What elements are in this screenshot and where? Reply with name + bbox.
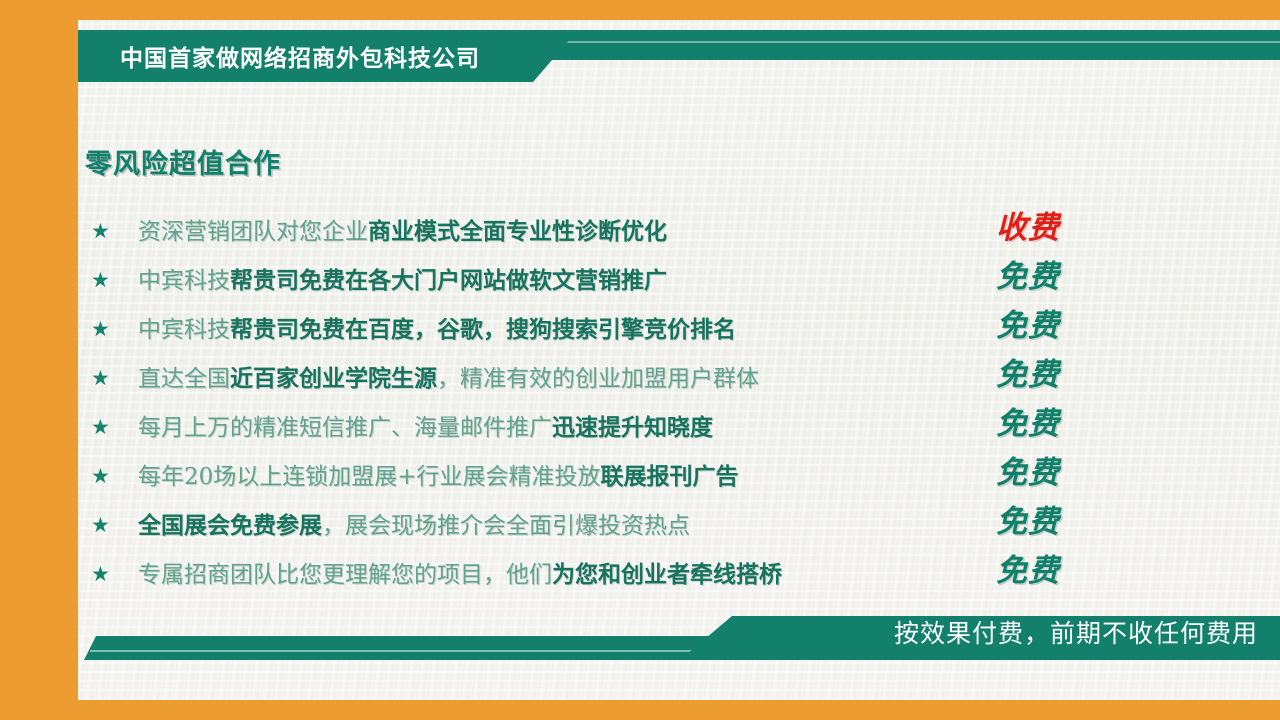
benefit-text-light-lead: 中宾科技: [138, 317, 230, 343]
benefit-text: 中宾科技帮贵司免费在百度，谷歌，搜狗搜索引擎竞价排名: [138, 314, 736, 346]
list-item: ★每月上万的精准短信推广、海量邮件推广迅速提升知晓度免费: [78, 406, 1280, 455]
star-icon: ★: [91, 466, 110, 487]
price-badge: 免费: [958, 255, 1098, 299]
benefit-text-light-tail: ，展会现场推介会全面引爆投资热点: [322, 513, 690, 539]
benefit-text-emphasis: 帮贵司免费在百度，谷歌，搜狗搜索引擎竞价排名: [230, 317, 736, 343]
benefit-text-emphasis: 商业模式全面专业性诊断优化: [368, 219, 667, 245]
benefit-text-emphasis: 全国展会免费参展: [138, 513, 322, 539]
price-badge: 免费: [958, 549, 1098, 593]
price-badge: 免费: [958, 500, 1098, 544]
star-icon: ★: [91, 221, 110, 242]
benefit-text-light-lead: 每月上万的精准短信推广、海量邮件推广: [138, 415, 552, 441]
list-item: ★中宾科技帮贵司免费在各大门户网站做软文营销推广免费: [78, 259, 1280, 308]
benefits-list: ★资深营销团队对您企业商业模式全面专业性诊断优化收费★中宾科技帮贵司免费在各大门…: [78, 210, 1280, 602]
list-item: ★直达全国近百家创业学院生源，精准有效的创业加盟用户群体免费: [78, 357, 1280, 406]
star-icon: ★: [91, 515, 110, 536]
list-item: ★资深营销团队对您企业商业模式全面专业性诊断优化收费: [78, 210, 1280, 259]
benefit-text-light-tail: ，精准有效的创业加盟用户群体: [437, 366, 759, 392]
benefit-text-emphasis: 联展报刊广告: [601, 464, 739, 490]
star-icon: ★: [91, 270, 110, 291]
star-icon: ★: [91, 368, 110, 389]
list-item: ★专属招商团队比您更理解您的项目，他们为您和创业者牵线搭桥免费: [78, 553, 1280, 602]
star-icon: ★: [91, 564, 110, 585]
price-badge: 免费: [958, 451, 1098, 495]
benefit-text: 中宾科技帮贵司免费在各大门户网站做软文营销推广: [138, 265, 667, 297]
footer-tagline: 按效果付费，前期不收任何费用: [894, 614, 1258, 650]
benefit-text: 资深营销团队对您企业商业模式全面专业性诊断优化: [138, 216, 667, 248]
benefit-text: 每年20场以上连锁加盟展+行业展会精准投放联展报刊广告: [138, 461, 739, 493]
price-badge: 免费: [958, 402, 1098, 446]
price-badge: 收费: [958, 206, 1098, 250]
benefit-text: 每月上万的精准短信推广、海量邮件推广迅速提升知晓度: [138, 412, 713, 444]
price-badge: 免费: [958, 304, 1098, 348]
list-item: ★中宾科技帮贵司免费在百度，谷歌，搜狗搜索引擎竞价排名免费: [78, 308, 1280, 357]
benefit-text-emphasis: 近百家创业学院生源: [230, 366, 437, 392]
benefit-text: 全国展会免费参展，展会现场推介会全面引爆投资热点: [138, 510, 690, 542]
benefit-text: 直达全国近百家创业学院生源，精准有效的创业加盟用户群体: [138, 363, 759, 395]
price-badge: 免费: [958, 353, 1098, 397]
benefit-text-light-lead: 专属招商团队比您更理解您的项目，他们: [138, 562, 552, 588]
benefit-text-emphasis: 帮贵司免费在各大门户网站做软文营销推广: [230, 268, 667, 294]
benefit-text-light-lead: 每年20场以上连锁加盟展+行业展会精准投放: [138, 464, 601, 490]
benefit-text-emphasis: 迅速提升知晓度: [552, 415, 713, 441]
star-icon: ★: [91, 417, 110, 438]
benefit-text-light-lead: 直达全国: [138, 366, 230, 392]
benefit-text-light-lead: 中宾科技: [138, 268, 230, 294]
header-title: 中国首家做网络招商外包科技公司: [120, 39, 550, 73]
slide-canvas: 中国首家做网络招商外包科技公司 零风险超值合作 ★资深营销团队对您企业商业模式全…: [78, 20, 1280, 700]
benefit-text-emphasis: 为您和创业者牵线搭桥: [552, 562, 782, 588]
benefit-text: 专属招商团队比您更理解您的项目，他们为您和创业者牵线搭桥: [138, 559, 782, 591]
benefit-text-light-lead: 资深营销团队对您企业: [138, 219, 368, 245]
list-item: ★全国展会免费参展，展会现场推介会全面引爆投资热点免费: [78, 504, 1280, 553]
list-item: ★每年20场以上连锁加盟展+行业展会精准投放联展报刊广告免费: [78, 455, 1280, 504]
star-icon: ★: [91, 319, 110, 340]
page-title: 零风险超值合作: [85, 142, 281, 181]
